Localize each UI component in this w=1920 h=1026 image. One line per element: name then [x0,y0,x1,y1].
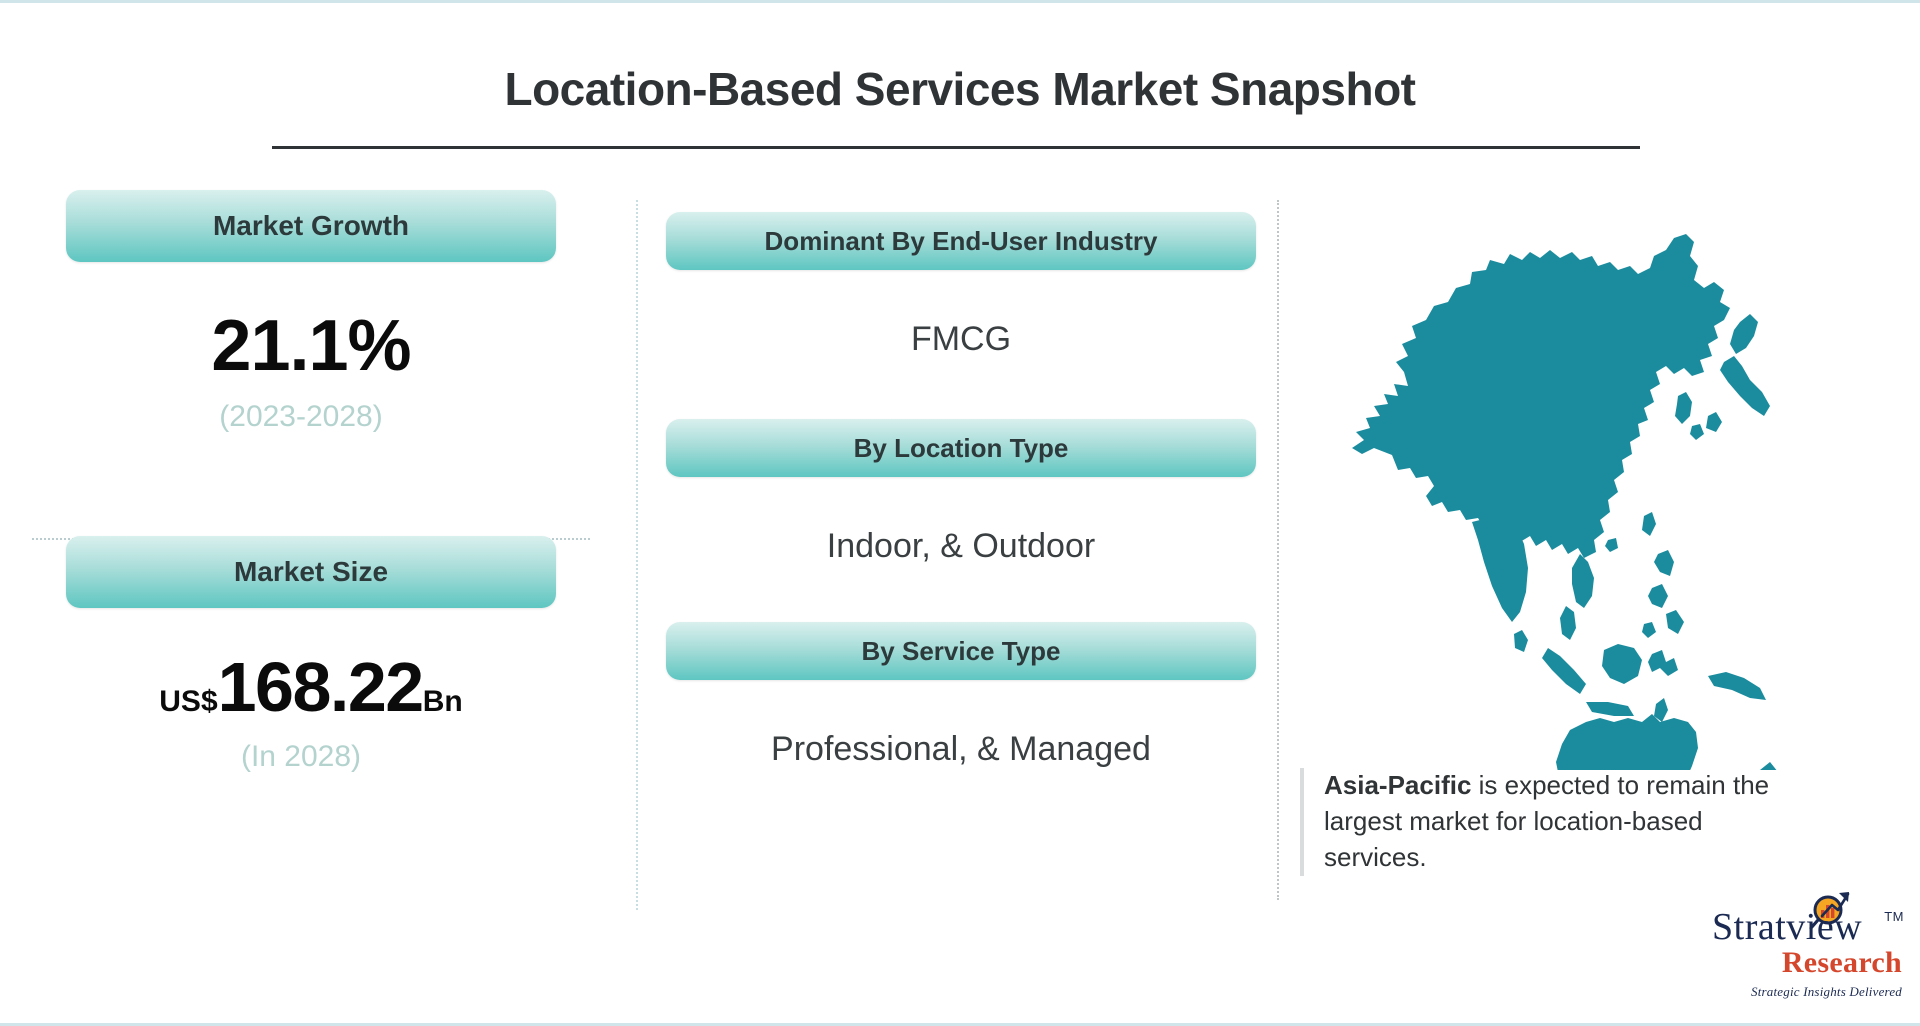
segment-value-end-user-industry: FMCG [666,320,1256,359]
segment-pill-service-type: By Service Type [666,622,1256,680]
segment-label-service-type: By Service Type [862,636,1061,667]
segment-label-end-user-industry: Dominant By End-User Industry [765,226,1158,257]
logo-tagline: Strategic Insights Delivered [1712,984,1902,1000]
market-size-unit: Bn [423,685,463,718]
market-growth-value: 21.1% [66,310,556,382]
title-underline [272,146,1640,149]
market-size-currency: US$ [159,685,217,718]
page-title: Location-Based Services Market Snapshot [0,62,1920,116]
market-size-number: 168.22 [218,648,423,726]
divider-middle-right [1277,200,1279,900]
regional-caption: Asia-Pacific is expected to remain the l… [1300,768,1794,876]
market-size-label: Market Size [234,556,388,588]
market-size-period: (In 2028) [56,740,546,774]
segment-pill-location-type: By Location Type [666,419,1256,477]
segment-value-location-type: Indoor, & Outdoor [666,527,1256,566]
market-growth-period: (2023-2028) [56,400,546,434]
regional-caption-region: Asia-Pacific [1324,770,1471,800]
segment-label-location-type: By Location Type [854,433,1069,464]
logo-division: Research [1712,948,1902,978]
market-size-pill: Market Size [66,536,556,608]
segment-value-service-type: Professional, & Managed [666,730,1256,769]
stratview-research-logo[interactable]: Stratview TM Research Strategic Insights… [1712,908,1902,1016]
market-size-value: US$168.22Bn [66,652,556,722]
segment-pill-end-user-industry: Dominant By End-User Industry [666,212,1256,270]
middle-column: Dominant By End-User Industry FMCG By Lo… [636,190,1276,769]
logo-trademark: TM [1884,910,1904,923]
logo-name: Stratview [1712,906,1862,948]
logo-wordmark: Stratview TM [1712,908,1902,946]
market-growth-pill: Market Growth [66,190,556,262]
market-growth-label: Market Growth [213,210,409,242]
asia-pacific-map-icon [1322,210,1842,770]
left-column: Market Growth 21.1% (2023-2028) Market S… [0,190,620,774]
